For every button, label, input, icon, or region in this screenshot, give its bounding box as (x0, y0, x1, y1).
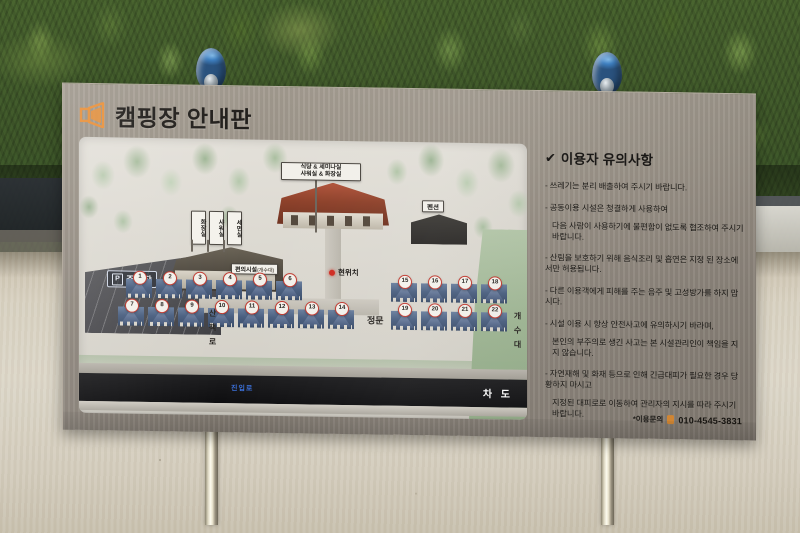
notice-item: - 쓰레기는 분리 배출하여 주시기 바랍니다. (545, 180, 745, 194)
check-icon: ✔ (545, 151, 556, 164)
notice-heading: 이용자 유의사항 (561, 147, 653, 168)
notice-item-main: - 시설 이용 시 항상 안전사고에 유의하시기 바라며, (545, 319, 714, 331)
notice-item-main: - 산림을 보호하기 위해 음식조리 및 흡연은 지정 된 장소에서만 허용됩니… (545, 253, 738, 274)
notice-item-sub: 다음 사람이 사용하기에 불편함이 없도록 협조하여 주시기 바랍니다. (545, 220, 745, 245)
notice-item: - 다른 이용객에게 피해를 주는 음주 및 고성방가를 하지 맙시다. (545, 285, 745, 310)
outdoor-scene: 캠핑장 안내판 P 주차장 (0, 0, 800, 533)
information-board: 캠핑장 안내판 P 주차장 (62, 83, 756, 441)
notice-panel: ✔ 이용자 유의사항 - 쓰레기는 분리 배출하여 주시기 바랍니다.- 공동이… (545, 147, 745, 433)
campsite-furniture (483, 299, 505, 303)
campsite-pad: 21 (451, 307, 477, 331)
campsite-pad: 22 (481, 307, 507, 331)
notice-item-sub: 본인의 부주의로 생긴 사고는 본 시설관리인이 책임을 지지 않습니다. (545, 336, 745, 361)
campsite-pad: 20 (421, 306, 447, 330)
campsite-number: 20 (428, 303, 442, 317)
campground-map: P 주차장 식당 & 세미나실 샤워실 & 화장실 편의시설(개수대) (79, 137, 527, 420)
post-finial-sphere-left-icon (196, 48, 226, 90)
notice-item-main: - 자연재해 및 화재 등으로 인해 긴급대피가 필요한 경우 당황하지 마시고 (545, 369, 738, 390)
notice-item-main: - 쓰레기는 분리 배출하여 주시기 바랍니다. (545, 181, 687, 192)
campsite-pad: 19 (391, 306, 417, 330)
campsite-furniture (393, 326, 415, 330)
campsite-pad: 15 (391, 278, 417, 302)
campsite-number: 16 (428, 275, 442, 289)
washstand-label-right: 개 수 대 (512, 312, 523, 351)
campsite-furniture (453, 327, 475, 331)
campsite-furniture (423, 298, 445, 302)
notice-item: - 산림을 보호하기 위해 음식조리 및 흡연은 지정 된 장소에서만 허용됩니… (545, 252, 745, 277)
notice-list: - 쓰레기는 분리 배출하여 주시기 바랍니다.- 공동이용 시설은 청결하게 … (545, 180, 745, 423)
campsite-number: 17 (458, 276, 472, 290)
trail-label-left: 산 책 로 (207, 309, 218, 348)
notice-item-main: - 다른 이용객에게 피해를 주는 음주 및 고성방가를 하지 맙시다. (545, 286, 738, 306)
campsite-pad: 16 (421, 278, 447, 302)
campsite-pad: 17 (451, 279, 477, 303)
campsite-furniture (393, 298, 415, 302)
megaphone-icon (79, 102, 107, 128)
campsite-pad: 18 (481, 279, 507, 303)
campsite-furniture (423, 326, 445, 330)
campsite-number: 19 (398, 303, 412, 317)
notice-heading-row: ✔ 이용자 유의사항 (545, 147, 745, 170)
campsite-number: 18 (488, 276, 502, 290)
roadway-label: 차 도 (483, 385, 513, 400)
notice-item: - 공동이용 시설은 청결하게 사용하여다음 사람이 사용하기에 불편함이 없도… (545, 202, 745, 245)
notice-item-main: - 공동이용 시설은 청결하게 사용하여 (545, 203, 668, 214)
campsite-number: 22 (488, 304, 502, 318)
page-title: 캠핑장 안내판 (115, 98, 252, 134)
post-finial-sphere-right-icon (592, 52, 622, 94)
notice-item: - 시설 이용 시 항상 안전사고에 유의하시기 바라며,본인의 부주의로 생긴… (545, 318, 745, 361)
campsite-furniture (483, 327, 505, 331)
entrance-road-label: 진입로 (231, 383, 253, 393)
campsite-number: 21 (458, 304, 472, 318)
campsite-furniture (453, 299, 475, 303)
board-title-row: 캠핑장 안내판 (79, 98, 252, 135)
main-gate-label: 정문 (367, 313, 384, 326)
campsite-number: 15 (398, 275, 412, 289)
